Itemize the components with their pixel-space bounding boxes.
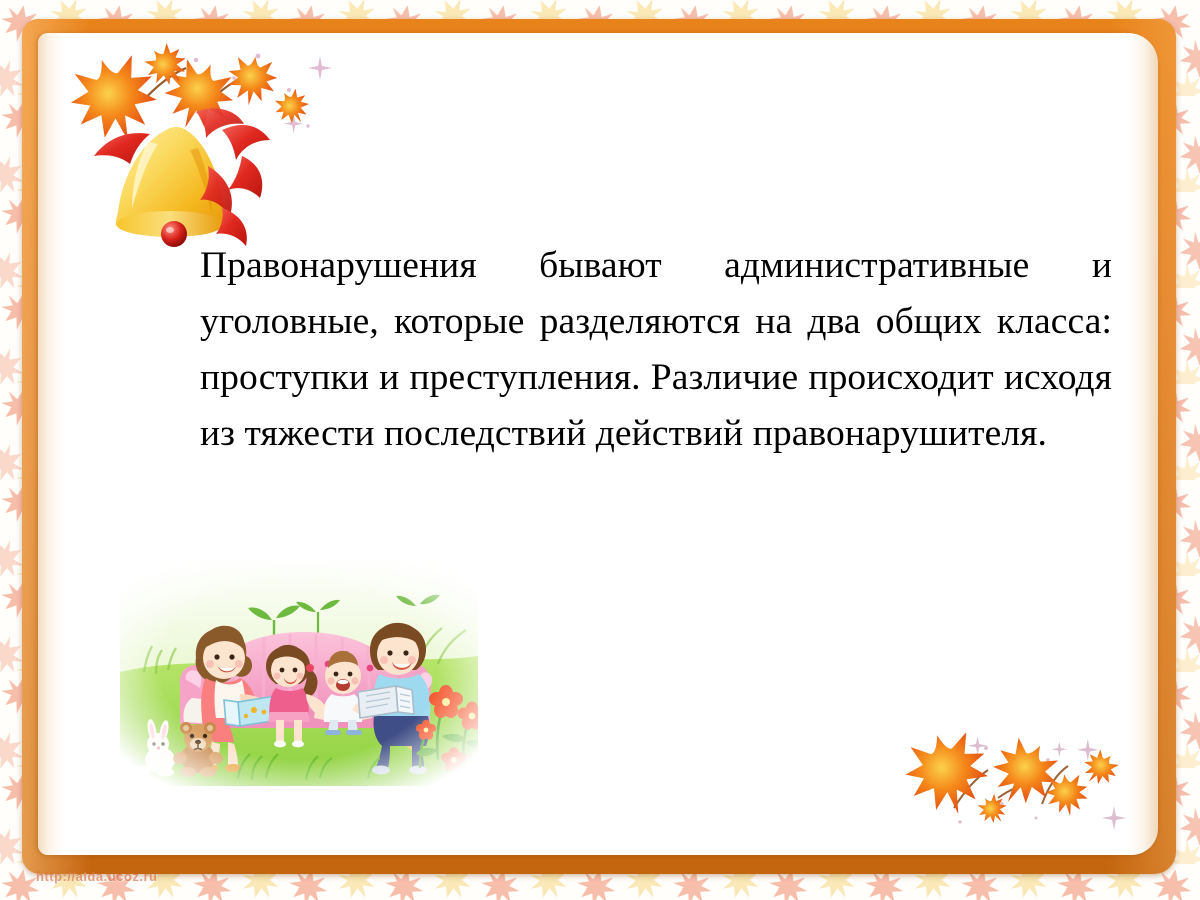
- maple-leaves-bottom-right: [890, 712, 1160, 852]
- source-watermark: http://aida.ucoz.ru: [36, 869, 157, 884]
- maple-leaf-group-br: [898, 725, 1124, 830]
- family-reading-illustration: [120, 554, 478, 786]
- slide-canvas: Правонарушения бывают административные и…: [0, 0, 1200, 900]
- slide-body-text: Правонарушения бывают административные и…: [200, 238, 1112, 462]
- bell-clapper: [161, 221, 187, 247]
- sparkle-dots-br: [958, 736, 1126, 830]
- body-paragraph: Правонарушения бывают административные и…: [200, 238, 1112, 462]
